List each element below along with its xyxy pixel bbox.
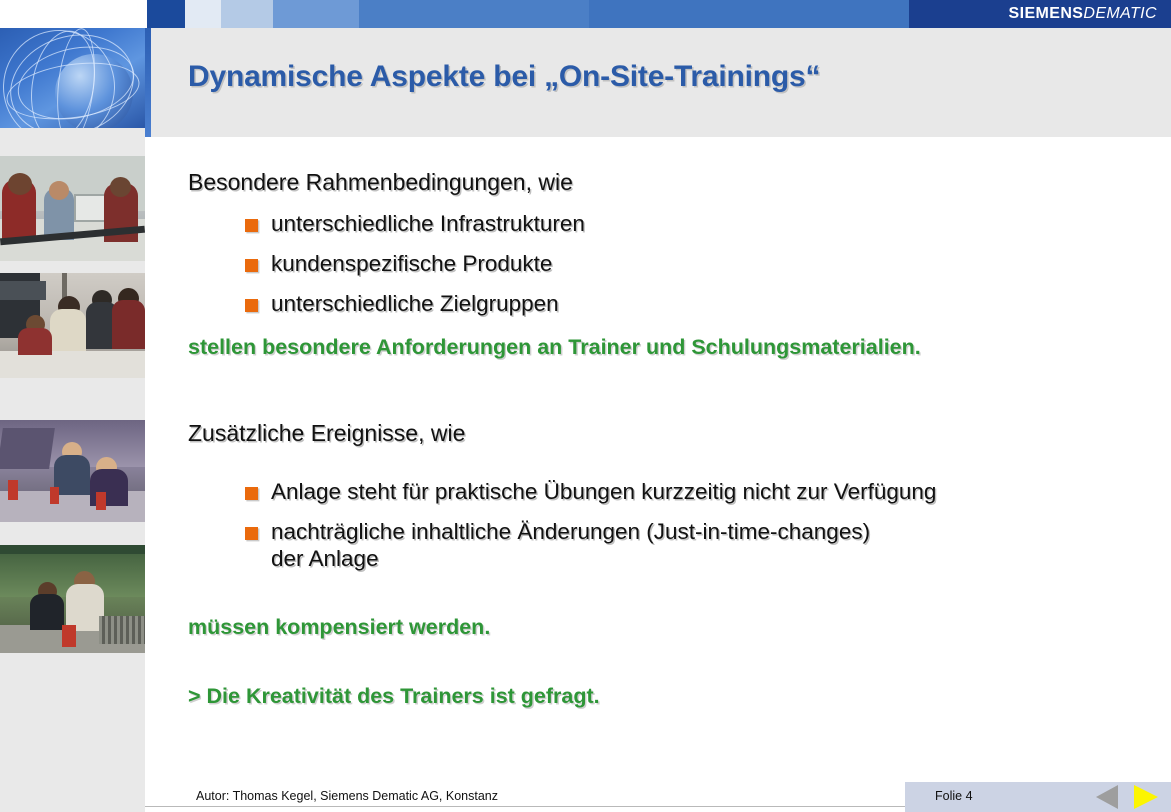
bullet-square-icon: [245, 487, 258, 500]
slide-number-label: Folie 4: [935, 789, 973, 803]
logo-siemens-text: SIEMENS: [1009, 5, 1084, 23]
section-one-intro: Besondere Rahmenbedingungen, wie: [188, 169, 573, 196]
triangle-left-icon[interactable]: [1096, 785, 1118, 809]
globe-network-image: [0, 28, 145, 128]
list-item: kundenspezifische Produkte: [245, 250, 552, 277]
photo-person: [50, 309, 86, 351]
training-lab-photo: [0, 273, 145, 378]
photo-person-head: [8, 173, 32, 195]
bullet-square-icon: [245, 219, 258, 232]
logo-dematic-text: DEMATIC: [1083, 5, 1157, 23]
banner-segment-royal-blue: [589, 0, 911, 28]
list-item-label: nachträgliche inhaltliche Änderungen (Ju…: [271, 518, 870, 572]
section-two-conclusion: müssen kompensiert werden.: [188, 615, 490, 640]
section-two-intro: Zusätzliche Ereignisse, wie: [188, 420, 465, 447]
section-one-conclusion: stellen besondere Anforderungen an Train…: [188, 335, 921, 360]
banner-segment-light-blue: [221, 0, 273, 28]
banner-segment-pale: [185, 0, 221, 28]
list-item: nachträgliche inhaltliche Änderungen (Ju…: [245, 518, 870, 572]
banner-segment-steel-blue: [359, 0, 589, 28]
photo-person: [18, 328, 52, 355]
page-title: Dynamische Aspekte bei „On-Site-Training…: [188, 60, 1118, 94]
list-item: Anlage steht für praktische Übungen kurz…: [245, 478, 936, 505]
photo-person: [54, 455, 90, 496]
photo-machinery: [0, 428, 55, 469]
bullet-square-icon: [245, 259, 258, 272]
slide-navigation-panel: Folie 4: [905, 782, 1171, 812]
title-accent-strip: [145, 28, 151, 137]
photo-monitor: [74, 194, 106, 222]
photo-tool: [8, 480, 18, 500]
photo-beam: [0, 545, 145, 554]
author-credit: Autor: Thomas Kegel, Siemens Dematic AG,…: [196, 789, 498, 803]
list-item-label: unterschiedliche Zielgruppen: [271, 290, 559, 317]
siemens-dematic-logo: SIEMENS DEMATIC: [909, 0, 1171, 28]
triangle-right-icon[interactable]: [1134, 785, 1158, 809]
photo-person: [112, 300, 145, 348]
list-item-label: unterschiedliche Infrastrukturen: [271, 210, 585, 237]
top-banner: SIEMENS DEMATIC: [0, 0, 1171, 28]
photo-rods: [99, 616, 145, 644]
list-item-label: Anlage steht für praktische Übungen kurz…: [271, 478, 936, 505]
list-item: unterschiedliche Infrastrukturen: [245, 210, 585, 237]
photo-tool: [62, 625, 76, 647]
workshop-photo: [0, 545, 145, 653]
banner-segment-white: [0, 0, 145, 28]
sidebar-image-column: [0, 28, 145, 812]
photo-tool: [50, 487, 59, 504]
banner-segment-mid-blue: [273, 0, 359, 28]
footer-left-fill: [0, 777, 145, 812]
photo-equipment: [0, 281, 46, 300]
photo-tool: [96, 492, 106, 510]
bullet-square-icon: [245, 527, 258, 540]
photo-person: [30, 594, 64, 631]
team-meeting-photo: [0, 156, 145, 261]
section-two-closing: > Die Kreativität des Trainers ist gefra…: [188, 684, 600, 709]
photo-person-head: [110, 177, 131, 197]
assembly-line-photo: [0, 420, 145, 522]
list-item-label: kundenspezifische Produkte: [271, 250, 552, 277]
slide-content: Besondere Rahmenbedingungen, wie untersc…: [145, 137, 1171, 777]
bullet-square-icon: [245, 299, 258, 312]
banner-segment-deep-blue: [147, 0, 185, 28]
list-item: unterschiedliche Zielgruppen: [245, 290, 559, 317]
